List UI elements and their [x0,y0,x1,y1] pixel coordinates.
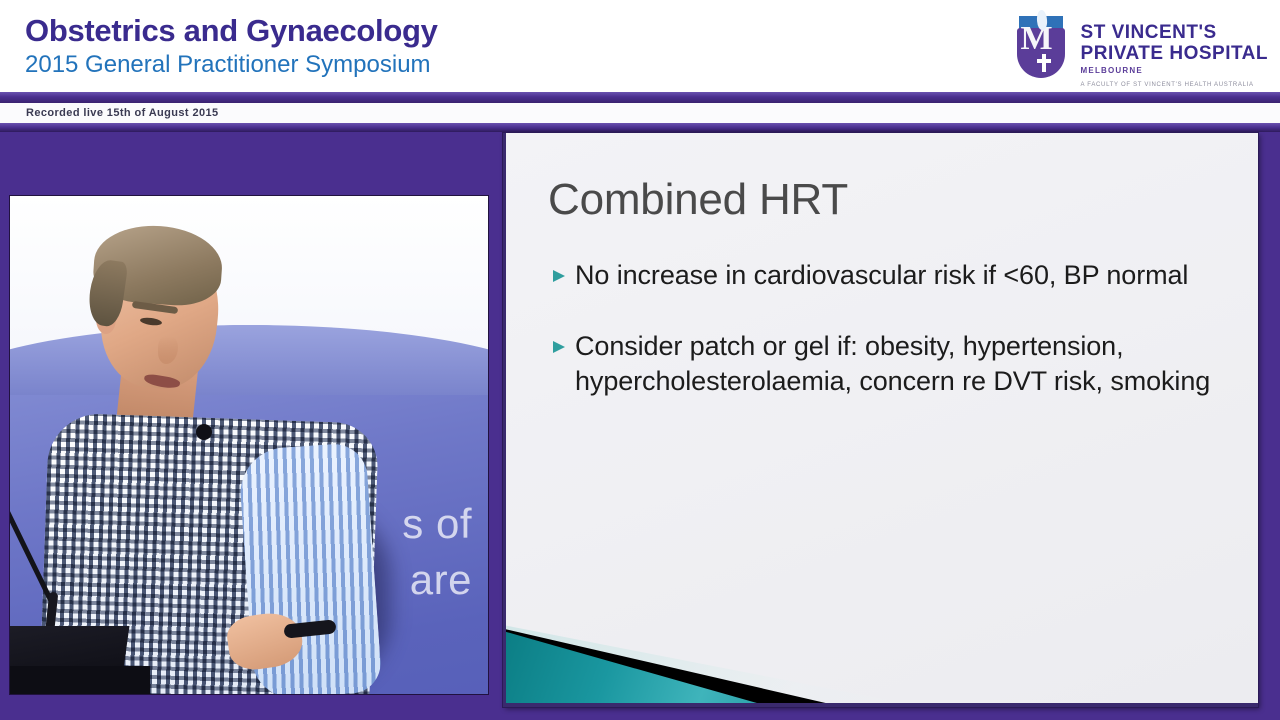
logo-wordmark: ST VINCENT'S PRIVATE HOSPITAL MELBOURNE … [1081,8,1268,90]
bullet-text: No increase in cardiovascular risk if <6… [575,258,1188,293]
speaker-video[interactable]: s of are [10,196,488,694]
presentation-slide[interactable]: Combined HRT No increase in cardiovascul… [503,133,1258,707]
recorded-live-label: Recorded live 15th of August 2015 [26,105,219,121]
page-title: Obstetrics and Gynaecology [25,12,438,50]
slide-bullet-list: No increase in cardiovascular risk if <6… [553,258,1233,435]
logo-line-4: A FACULTY OF ST VINCENT'S HEALTH AUSTRAL… [1081,80,1268,90]
triangle-bullet-icon [553,270,565,282]
backdrop-text: s of are [402,496,472,608]
list-item: Consider patch or gel if: obesity, hyper… [553,329,1233,399]
player-stage: Obstetrics and Gynaecology 2015 General … [0,0,1280,720]
backdrop-text-line-2: are [402,552,472,608]
slide-canvas: Combined HRT No increase in cardiovascul… [503,133,1258,707]
triangle-bullet-icon [553,341,565,353]
logo-line-2: PRIVATE HOSPITAL [1081,43,1268,64]
cross-icon [1042,54,1046,72]
backdrop-arc [10,325,488,395]
logo-monogram-icon: M [1021,22,1053,56]
slide-decoration [503,625,1258,707]
page-header: Obstetrics and Gynaecology 2015 General … [0,0,1280,92]
header-divider-bottom [0,123,1280,132]
lectern [10,666,150,694]
header-title-block: Obstetrics and Gynaecology 2015 General … [25,12,438,80]
logo-line-3: MELBOURNE [1081,65,1268,77]
slide-left-edge [503,133,506,707]
page-subtitle: 2015 General Practitioner Symposium [25,50,438,80]
hospital-logo: M ST VINCENT'S PRIVATE HOSPITAL MELBOURN… [1011,8,1268,90]
backdrop-text-line-1: s of [402,496,472,552]
bullet-text: Consider patch or gel if: obesity, hyper… [575,329,1233,399]
header-divider-top [0,92,1280,103]
list-item: No increase in cardiovascular risk if <6… [553,258,1233,293]
slide-title: Combined HRT [548,173,848,227]
video-content: s of are [10,196,488,694]
slide-bottom-edge [503,703,1258,707]
shield-flame-icon: M [1011,8,1073,82]
logo-line-1: ST VINCENT'S [1081,22,1268,43]
microphone-icon [196,424,212,440]
